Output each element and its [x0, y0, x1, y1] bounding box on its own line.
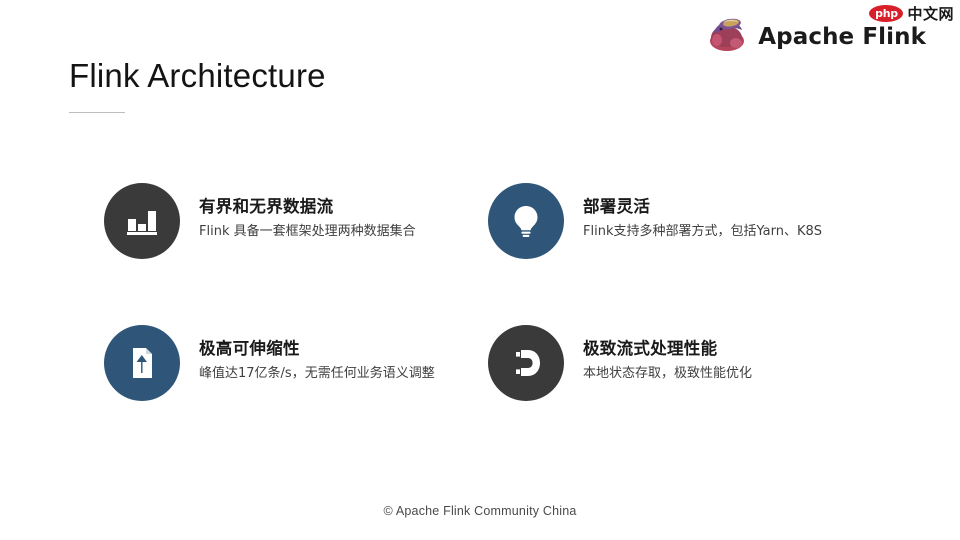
flink-squirrel-icon: [705, 16, 749, 57]
feature-heading: 有界和无界数据流: [199, 196, 416, 218]
watermark-label: 中文网: [907, 3, 954, 24]
magnet-icon: [488, 325, 564, 401]
php-badge-icon: php: [869, 5, 903, 22]
footer-copyright: © Apache Flink Community China: [0, 504, 960, 518]
bar-chart-icon: [104, 183, 180, 259]
lightbulb-icon: [488, 183, 564, 259]
feature-subtitle: 本地状态存取，极致性能优化: [583, 365, 752, 383]
title-underline-rule: [69, 112, 125, 113]
feature-text: 极致流式处理性能 本地状态存取，极致性能优化: [583, 325, 752, 383]
php-watermark: php 中文网: [869, 3, 954, 24]
feature-item: 极高可伸缩性 峰值达17亿条/s，无需任何业务语义调整: [104, 325, 484, 467]
feature-heading: 部署灵活: [583, 196, 822, 218]
feature-subtitle: 峰值达17亿条/s，无需任何业务语义调整: [199, 365, 435, 383]
slide-canvas: php 中文网 Apache Flink Flink Architecture: [0, 0, 960, 540]
feature-text: 有界和无界数据流 Flink 具备一套框架处理两种数据集合: [199, 183, 416, 241]
feature-item: 极致流式处理性能 本地状态存取，极致性能优化: [488, 325, 868, 467]
feature-heading: 极致流式处理性能: [583, 338, 752, 360]
feature-item: 部署灵活 Flink支持多种部署方式，包括Yarn、K8S: [488, 183, 868, 325]
document-upload-icon: [104, 325, 180, 401]
feature-grid: 有界和无界数据流 Flink 具备一套框架处理两种数据集合 部署灵活 Flink…: [104, 183, 894, 467]
feature-text: 极高可伸缩性 峰值达17亿条/s，无需任何业务语义调整: [199, 325, 435, 383]
feature-item: 有界和无界数据流 Flink 具备一套框架处理两种数据集合: [104, 183, 484, 325]
feature-heading: 极高可伸缩性: [199, 338, 435, 360]
feature-subtitle: Flink支持多种部署方式，包括Yarn、K8S: [583, 223, 822, 241]
brand-name: Apache Flink: [758, 24, 926, 50]
title-block: Flink Architecture: [69, 56, 326, 113]
page-title: Flink Architecture: [69, 56, 326, 96]
feature-text: 部署灵活 Flink支持多种部署方式，包括Yarn、K8S: [583, 183, 822, 241]
feature-subtitle: Flink 具备一套框架处理两种数据集合: [199, 223, 416, 241]
